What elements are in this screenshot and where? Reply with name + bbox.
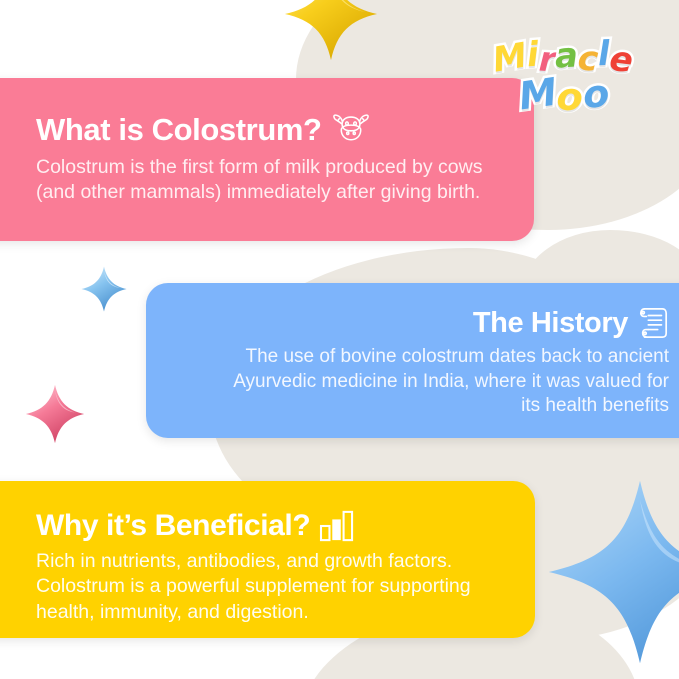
logo-letter: o: [555, 74, 584, 120]
card-body-line: Colostrum is the first form of milk prod…: [36, 155, 498, 180]
logo-letter: o: [581, 71, 610, 117]
infographic-canvas: What is Colostrum? Colostrum is the firs…: [0, 0, 679, 679]
card-what-is-colostrum[interactable]: What is Colostrum? Colostrum is the firs…: [0, 78, 534, 241]
sparkle-blue-large: [545, 472, 679, 672]
cow-face-icon: [331, 113, 371, 147]
card-body: Rich in nutrients, antibodies, and growt…: [36, 549, 499, 625]
card-body-line: Ayurvedic medicine in India, where it wa…: [172, 370, 669, 395]
card-body-line: Rich in nutrients, antibodies, and growt…: [36, 549, 499, 574]
card-body-line: (and other mammals) immediately after gi…: [36, 180, 498, 205]
card-body-line: The use of bovine colostrum dates back t…: [172, 345, 669, 370]
card-heading: Why it’s Beneficial?: [36, 509, 499, 543]
bar-chart-icon: [319, 510, 355, 542]
sparkle-blue-small: [80, 265, 128, 313]
card-body-line: its health benefits: [172, 394, 669, 419]
card-heading-text: Why it’s Beneficial?: [36, 509, 310, 543]
card-body: The use of bovine colostrum dates back t…: [172, 345, 669, 419]
logo-letter: M: [516, 70, 560, 119]
card-heading: What is Colostrum?: [36, 112, 498, 148]
card-body-line: health, immunity, and digestion.: [36, 600, 499, 625]
logo-line-moo: Moo: [519, 72, 609, 116]
logo-letter: e: [607, 39, 635, 82]
card-heading: The History: [172, 305, 669, 341]
card-body: Colostrum is the first form of milk prod…: [36, 155, 498, 206]
card-body-line: Colostrum is a powerful supplement for s…: [36, 574, 499, 599]
card-why-its-beneficial[interactable]: Why it’s Beneficial? Rich in nutrients, …: [0, 481, 535, 638]
card-the-history[interactable]: The History The use of bovine colostrum …: [146, 283, 679, 438]
card-heading-text: The History: [473, 307, 628, 340]
scroll-icon: [637, 305, 669, 341]
sparkle-yellow-top: [283, 0, 379, 62]
brand-logo[interactable]: Miracle Moo: [487, 36, 663, 132]
card-heading-text: What is Colostrum?: [36, 112, 322, 148]
sparkle-pink-small: [24, 383, 86, 445]
logo-letter: a: [554, 35, 579, 76]
